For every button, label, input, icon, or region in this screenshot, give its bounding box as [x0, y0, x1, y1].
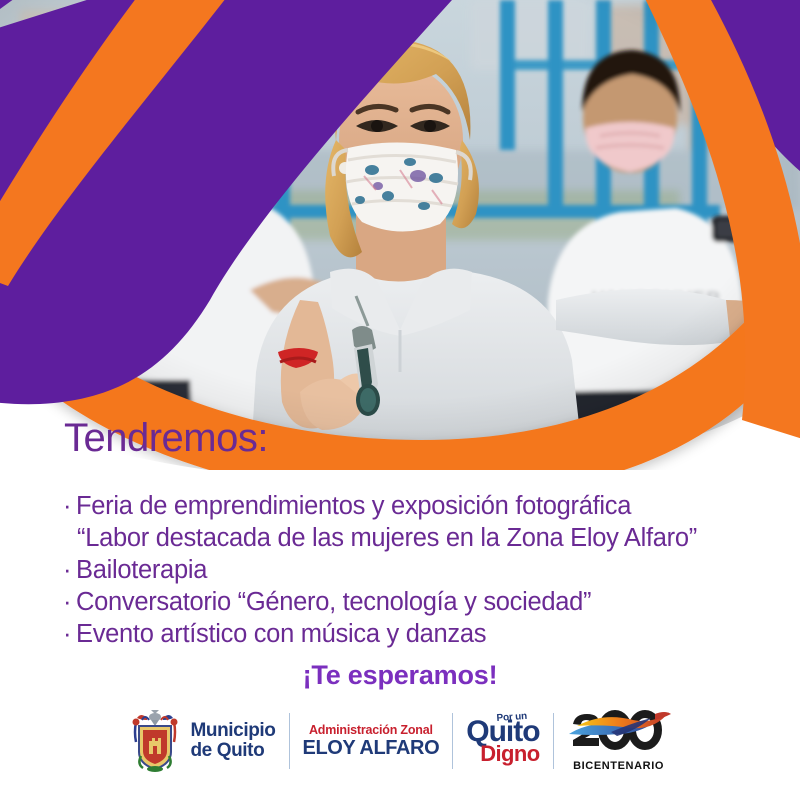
list-item-text: Bailoterapia — [76, 556, 207, 584]
quito-coat-of-arms-icon — [129, 710, 181, 772]
list-item: ·Conversatorio “Género, tecnología y soc… — [63, 586, 763, 618]
list-item: ·Bailoterapia — [63, 554, 763, 586]
logo-eloy-line1: Administración Zonal — [303, 724, 440, 737]
list-item: ·Evento artístico con música y danzas — [63, 618, 763, 650]
logo-bicentenario-word: BICENTENARIO — [567, 761, 671, 772]
hero-image: VANCOUVER — [0, 0, 800, 470]
bullet-marker: · — [63, 490, 76, 522]
list-item: ·Feria de emprendimientos y exposición f… — [63, 490, 763, 522]
list-item-continuation: “Labor destacada de las mujeres en la Zo… — [63, 522, 763, 554]
bullet-marker: · — [63, 554, 76, 586]
logo-municipio-line1: Municipio — [190, 721, 275, 741]
logo-municipio-de-quito: Municipio de Quito — [116, 710, 288, 772]
logo-eloy-line2: ELOY ALFARO — [303, 738, 440, 758]
page-title: Tendremos: — [64, 418, 268, 458]
logo-bicentenario: BICENTENARIO — [554, 710, 684, 772]
logo-bar: Municipio de Quito Administración Zonal … — [0, 700, 800, 782]
logo-municipio-line2: de Quito — [190, 741, 275, 761]
bullet-marker: · — [63, 618, 76, 650]
list-item-text: Feria de emprendimientos y exposición fo… — [76, 492, 631, 520]
list-item-text: Evento artístico con música y danzas — [76, 620, 486, 648]
logo-eloy-alfaro: Administración Zonal ELOY ALFARO — [290, 710, 453, 772]
bullet-list: ·Feria de emprendimientos y exposición f… — [63, 490, 763, 650]
bicentenario-200-icon — [567, 710, 671, 756]
call-to-action: ¡Te esperamos! — [0, 660, 800, 691]
logo-quito-digno: Por un Quito Digno — [453, 710, 552, 772]
hero-graphic: VANCOUVER — [0, 0, 800, 470]
list-item-text: “Labor destacada de las mujeres en la Zo… — [77, 524, 697, 552]
bullet-marker: · — [63, 586, 76, 618]
logo-digno-small: Por un — [497, 712, 528, 724]
list-item-text: Conversatorio “Género, tecnología y soci… — [76, 588, 591, 616]
poster: VANCOUVER — [0, 0, 800, 800]
